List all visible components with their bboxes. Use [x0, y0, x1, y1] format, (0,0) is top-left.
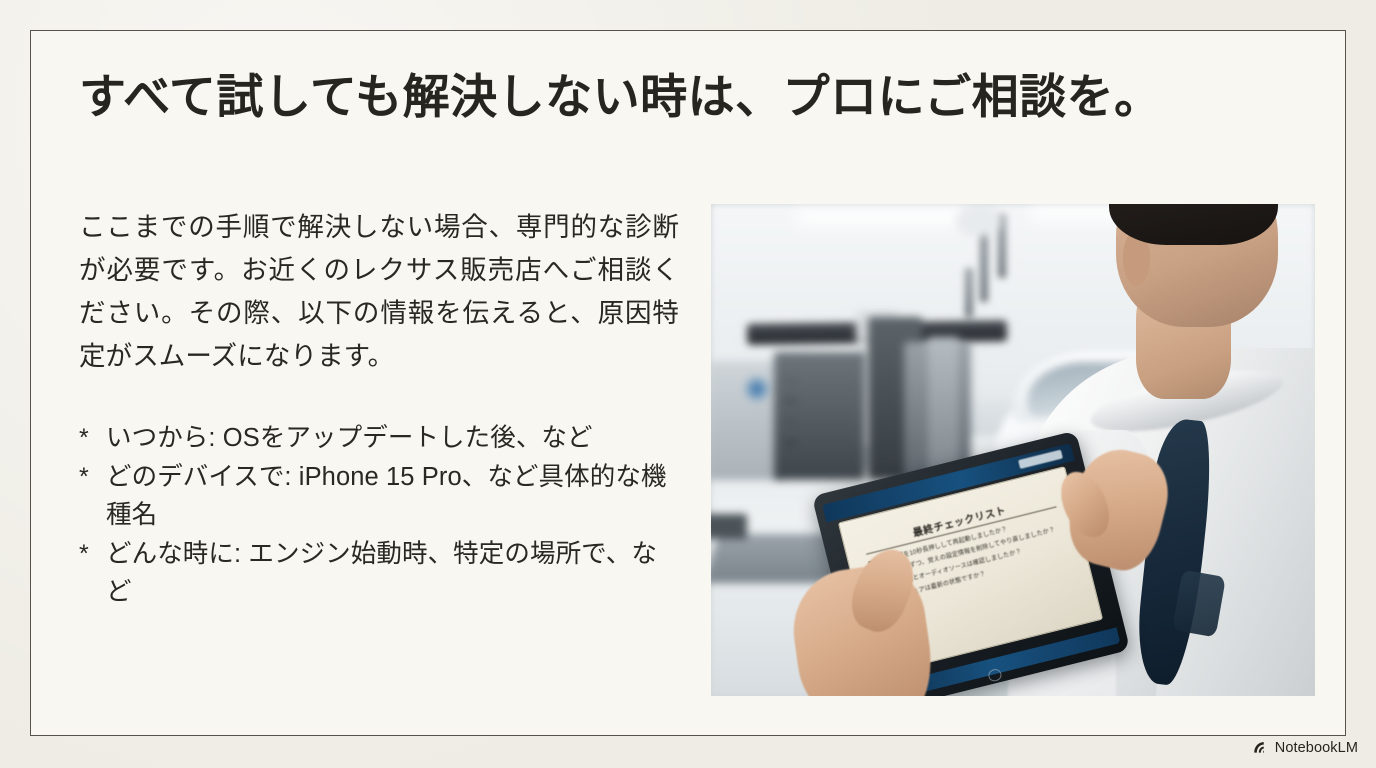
- list-item: * どんな時に: エンジン始動時、特定の場所で、など: [79, 536, 679, 611]
- workshop-column: [928, 337, 958, 480]
- bullet-marker-icon: *: [79, 420, 106, 457]
- slide-root: すべて試しても解決しない時は、プロにご相談を。 ここまでの手順で解決しない場合、…: [0, 0, 1376, 768]
- service-center-photo: 最終チェックリスト 音量ノブを10秒長押しして再起動しましたか？ 接続を1つずつ…: [711, 204, 1315, 696]
- left-content-column: ここまでの手順で解決しない場合、専門的な診断が必要です。お近くのレクサス販売店へ…: [79, 206, 679, 613]
- notebooklm-label: NotebookLM: [1275, 740, 1358, 756]
- slide-panel: すべて試しても解決しない時は、プロにご相談を。 ここまでの手順で解決しない場合、…: [30, 30, 1346, 736]
- floor-lift-plate: [711, 514, 747, 539]
- pressure-gauge-icon: [744, 376, 769, 402]
- list-item: * どのデバイスで: iPhone 15 Pro、など具体的な機種名: [79, 459, 679, 534]
- photo-canvas: 最終チェックリスト 音量ノブを10秒長押しして再起動しましたか？ 接続を1つずつ…: [711, 204, 1315, 696]
- tool-chest: [774, 352, 865, 480]
- bullet-marker-icon: *: [79, 459, 106, 496]
- list-item-label: どのデバイスで: iPhone 15 Pro、など具体的な機種名: [106, 459, 679, 534]
- notebooklm-brand: NotebookLM: [1252, 739, 1358, 756]
- bullet-marker-icon: *: [79, 536, 106, 573]
- notebooklm-spiral-icon: [1252, 739, 1269, 756]
- list-item: * いつから: OSをアップデートした後、など: [79, 420, 679, 457]
- info-bullet-list: * いつから: OSをアップデートした後、など * どのデバイスで: iPhon…: [79, 420, 679, 611]
- intro-paragraph: ここまでの手順で解決しない場合、専門的な診断が必要です。お近くのレクサス販売店へ…: [79, 206, 679, 378]
- hose-reel: [965, 268, 973, 317]
- ceiling-light-icon: [796, 209, 977, 225]
- list-item-label: どんな時に: エンジン始動時、特定の場所で、など: [106, 536, 679, 611]
- page-title: すべて試しても解決しない時は、プロにご相談を。: [79, 69, 1259, 124]
- hose-reel-housing: [956, 204, 1001, 236]
- list-item-label: いつから: OSをアップデートした後、など: [106, 420, 679, 457]
